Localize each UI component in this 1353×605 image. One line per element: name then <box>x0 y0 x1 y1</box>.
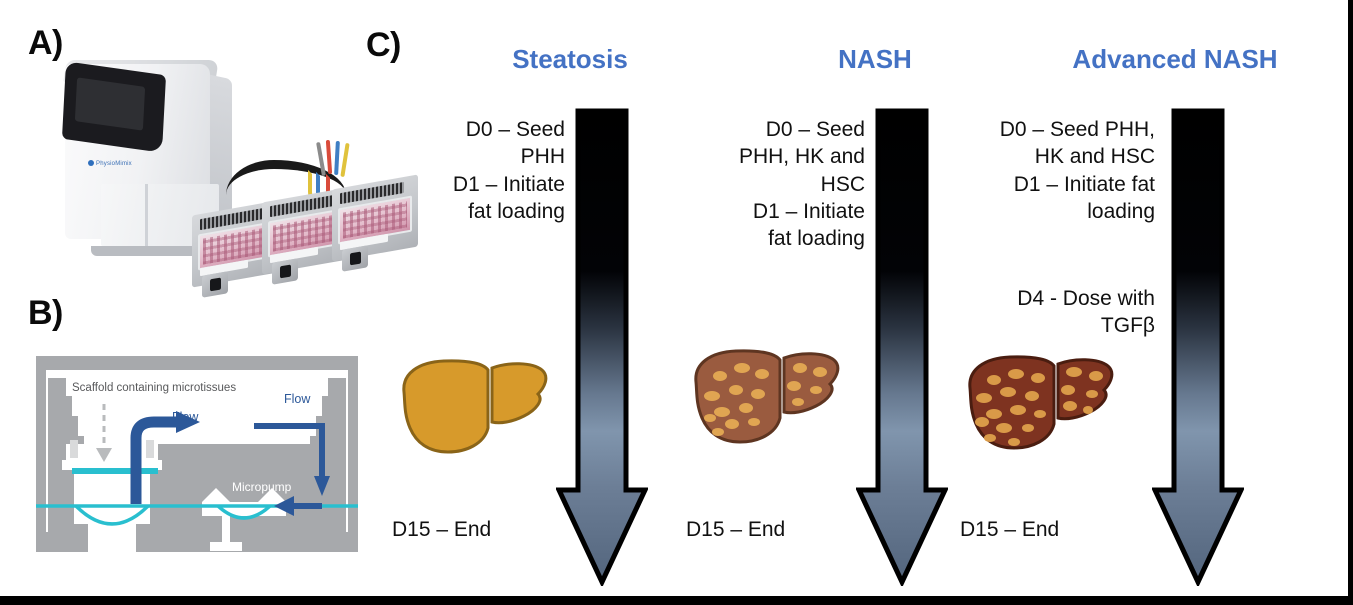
arrow-shape <box>859 111 945 582</box>
arrow-shape <box>1155 111 1241 582</box>
brand-name: PhysioMimix <box>96 161 132 167</box>
arrow-shape <box>559 111 645 582</box>
micropump-label: Micropump <box>232 480 291 494</box>
panel-c-letter: C) <box>366 28 401 62</box>
chip-right-wall <box>348 356 358 552</box>
column-title-advanced-nash: Advanced NASH <box>1060 44 1290 75</box>
column-end-steatosis: D15 – End <box>392 518 491 542</box>
arrow-svg <box>856 108 948 586</box>
panel-a-instrument-photo: PhysioMimix <box>40 50 370 280</box>
instrument-touchscreen[interactable] <box>75 77 145 130</box>
scaffold-label: Scaffold containing microtissues <box>72 382 236 394</box>
pod-connector-knob <box>272 258 298 285</box>
wire-red <box>326 140 332 174</box>
liver-icon-advanced-nash <box>958 348 1136 468</box>
pod-connector-knob <box>202 271 228 298</box>
liver-icon-steatosis <box>392 352 562 467</box>
timeline-arrow-steatosis <box>556 108 648 591</box>
column-title-nash: NASH <box>790 44 960 75</box>
liver-icon-nash <box>684 342 859 462</box>
column-steps-nash: D0 – Seed PHH, HK and HSC D1 – Initiate … <box>690 116 865 252</box>
chip-right-funnel-wall <box>310 378 346 552</box>
figure-root: A) PhysioMimix <box>0 0 1353 605</box>
arrow-svg <box>556 108 648 586</box>
arrow-svg <box>1152 108 1244 586</box>
flow-label-right: Flow <box>284 392 310 406</box>
chamber-base-plug <box>88 506 136 552</box>
column-steps-steatosis: D0 – Seed PHH D1 – Initiate fat loading <box>395 116 565 225</box>
column-steps-advanced-nash: D0 – Seed PHH, HK and HSC D1 – Initiate … <box>955 116 1155 225</box>
micropump-actuator-stem <box>222 514 230 546</box>
liver-right-lobe <box>492 364 546 423</box>
column-title-steatosis: Steatosis <box>470 44 670 75</box>
scaffold-membrane-bar <box>72 468 158 474</box>
chip-left-wall <box>36 356 46 552</box>
column-end-advanced-nash: D15 – End <box>960 518 1059 542</box>
micropump-actuator-foot <box>210 542 242 551</box>
scaffold-post-left <box>70 440 78 458</box>
timeline-arrow-advanced-nash <box>1152 108 1244 591</box>
instrument-brand-logo: PhysioMimix <box>88 160 132 167</box>
scaffold-post-right <box>146 440 154 458</box>
timeline-arrow-nash <box>856 108 948 591</box>
flow-label-left: Flow <box>172 410 198 424</box>
panel-b-letter: B) <box>28 296 63 330</box>
liver-left-lobe <box>404 361 488 452</box>
column-end-nash: D15 – End <box>686 518 785 542</box>
panel-b-chip-schematic: Scaffold containing microtissues Micropu… <box>36 356 358 570</box>
pod-connector-knob <box>342 245 368 272</box>
brand-dot-icon <box>88 160 94 166</box>
chip-top-rail <box>36 356 358 370</box>
column-steps-mid-advanced-nash: D4 - Dose with TGFβ <box>955 285 1155 340</box>
